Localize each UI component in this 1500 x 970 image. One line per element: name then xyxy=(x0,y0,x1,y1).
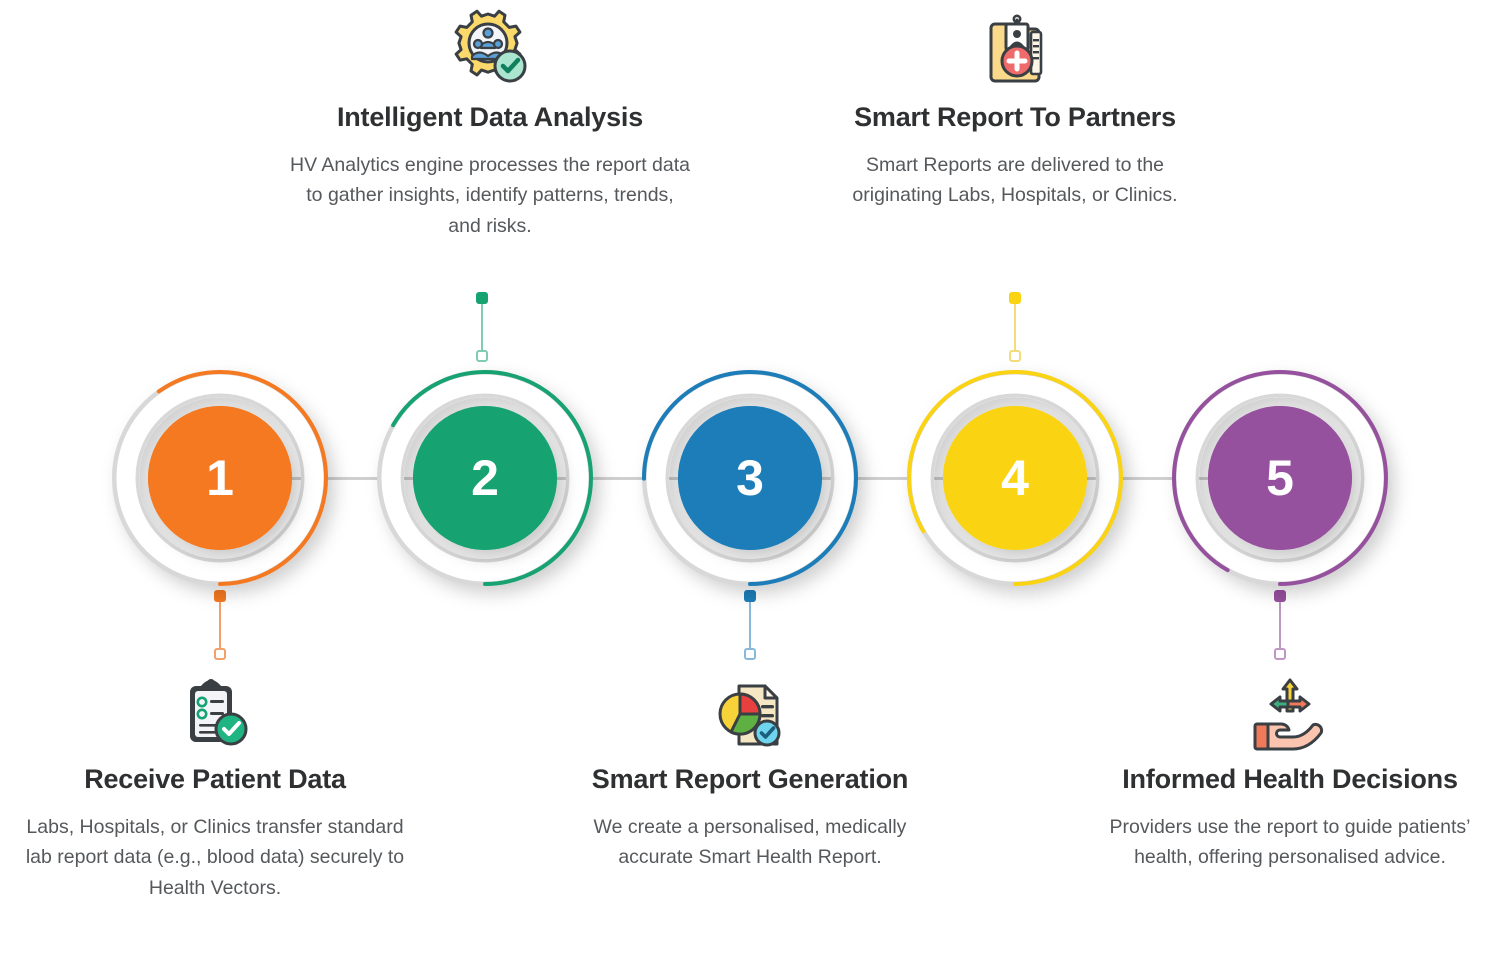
connector-stem-3 xyxy=(740,590,760,660)
step-title-1: Receive Patient Data xyxy=(25,762,405,798)
step-title-2: Intelligent Data Analysis xyxy=(290,100,690,136)
step-title-4: Smart Report To Partners xyxy=(835,100,1195,136)
step-number-5: 5 xyxy=(1208,406,1352,550)
step-block-3: Smart Report Generation We create a pers… xyxy=(570,668,930,873)
step-block-4: Smart Report To Partners Smart Reports a… xyxy=(835,4,1195,211)
step-node-2[interactable]: 2 xyxy=(355,368,615,588)
step-number-1: 1 xyxy=(148,406,292,550)
step-block-5: Informed Health Decisions Providers use … xyxy=(1100,668,1480,873)
step-description-2: HV Analytics engine processes the report… xyxy=(290,150,690,242)
connector-stem-1 xyxy=(210,590,230,660)
connector-stem-2 xyxy=(472,292,492,362)
step-node-5[interactable]: 5 xyxy=(1150,368,1410,588)
process-infographic: 1 Receive Patient Data Labs, xyxy=(0,0,1500,970)
step-title-3: Smart Report Generation xyxy=(570,762,930,798)
step-node-4[interactable]: 4 xyxy=(885,368,1145,588)
pie-chart-document-icon xyxy=(570,668,930,754)
step-description-1: Labs, Hospitals, or Clinics transfer sta… xyxy=(25,812,405,904)
hand-direction-arrows-icon xyxy=(1100,668,1480,754)
step-block-2: Intelligent Data Analysis HV Analytics e… xyxy=(290,4,690,242)
connector-stem-4 xyxy=(1005,292,1025,362)
step-description-3: We create a personalised, medically accu… xyxy=(570,812,930,874)
medical-folder-id-icon xyxy=(835,4,1195,90)
clipboard-checklist-icon xyxy=(25,668,405,754)
step-node-3[interactable]: 3 xyxy=(620,368,880,588)
step-number-2: 2 xyxy=(413,406,557,550)
connector-stem-5 xyxy=(1270,590,1290,660)
step-description-5: Providers use the report to guide patien… xyxy=(1100,812,1480,874)
step-title-5: Informed Health Decisions xyxy=(1100,762,1480,798)
step-description-4: Smart Reports are delivered to the origi… xyxy=(835,150,1195,212)
step-number-3: 3 xyxy=(678,406,822,550)
gear-people-check-icon xyxy=(290,4,690,90)
step-number-4: 4 xyxy=(943,406,1087,550)
step-node-1[interactable]: 1 xyxy=(90,368,350,588)
step-block-1: Receive Patient Data Labs, Hospitals, or… xyxy=(25,668,405,904)
